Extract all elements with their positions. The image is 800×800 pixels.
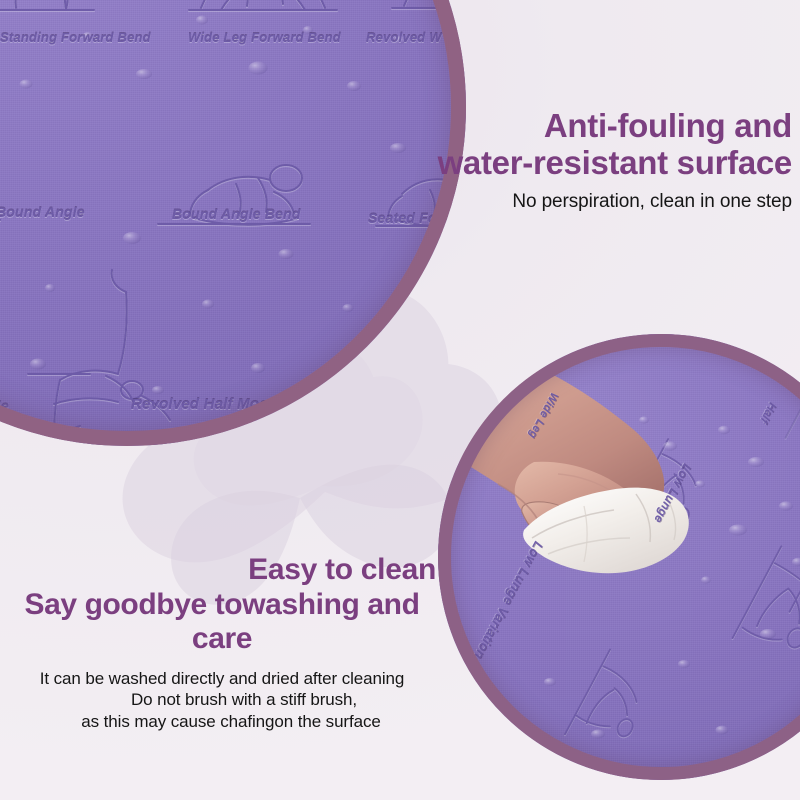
feature-bottom-body-line2: Do not brush with a stiff brush, bbox=[0, 689, 444, 711]
pose-label: Wide Leg Forward Bend bbox=[188, 30, 341, 45]
feature-top-text-block: Anti-fouling and water-resistant surface… bbox=[272, 108, 792, 213]
feature-bottom-heading-line1: Easy to clean bbox=[0, 553, 444, 587]
product-feature-banner: Standing Forward Bend Wide Leg Forward B… bbox=[0, 0, 800, 800]
feature-bottom-text-block: Easy to clean Say goodbye towashing and … bbox=[0, 553, 444, 733]
feature-bottom-body-line3: as this may cause chafingon the surface bbox=[0, 711, 444, 733]
mat-emboss-artwork-bottom bbox=[438, 334, 800, 780]
feature-bottom-body-line1: It can be washed directly and dried afte… bbox=[0, 668, 444, 690]
feature-bottom-heading-line2: Say goodbye towashing and care bbox=[0, 588, 444, 656]
pose-label: Revolved Half Moon bbox=[131, 396, 278, 413]
feature-top-subheading: No perspiration, clean in one step bbox=[272, 191, 792, 213]
pose-label: Revolved W bbox=[366, 30, 442, 45]
hand-graphic bbox=[438, 344, 689, 573]
mat-closeup-circle-top: Standing Forward Bend Wide Leg Forward B… bbox=[0, 0, 466, 446]
pose-label: Standing Forward Bend bbox=[0, 30, 151, 45]
pose-label: gle bbox=[0, 398, 9, 414]
feature-top-heading-line1: Anti-fouling and bbox=[272, 108, 792, 145]
mat-closeup-circle-bottom: Low Lunge Variation Low Lunge Wide Leg H… bbox=[438, 334, 800, 780]
pose-label: Bound Angle bbox=[0, 204, 85, 220]
feature-top-heading-line2: water-resistant surface bbox=[272, 145, 792, 182]
